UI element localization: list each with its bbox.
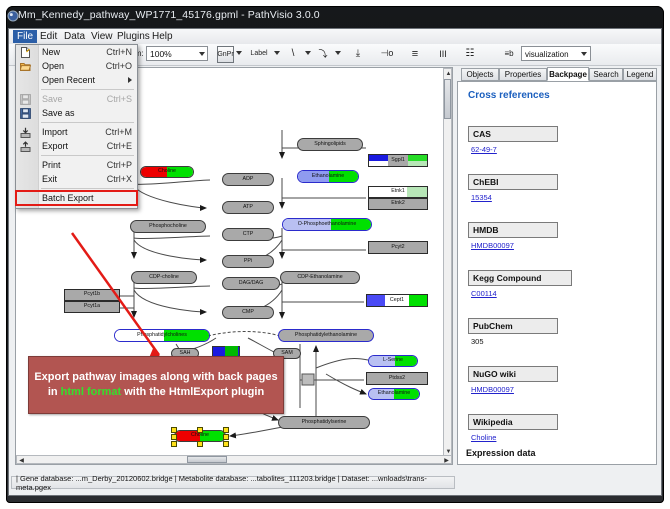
tab-objects[interactable]: Objects [461,68,499,81]
label-tool-button[interactable]: Label [247,46,271,61]
chevron-down-icon [199,52,205,56]
xref-source-label: CAS [468,126,558,142]
xref-cas: CAS 62-49-7 [468,126,558,154]
xref-pubchem: PubChem 305 [468,318,558,346]
menu-item-accel: Ctrl+E [107,141,132,151]
chevron-down-icon[interactable] [274,51,280,55]
menu-item-open-recent[interactable]: Open Recent [16,73,137,87]
distribute-horizontal-tool-button[interactable]: III [435,46,451,61]
line-tool-button[interactable]: \ [285,46,301,61]
callout-text-after: with the HtmlExport plugin [121,386,264,398]
export-icon [20,141,31,152]
menu-item-label: Open Recent [42,75,95,85]
menu-item-label: Export [42,141,68,151]
xref-source-label: Kegg Compound [468,270,572,286]
align-left-tool-button[interactable]: ⊣o [378,46,396,61]
menu-item-exit[interactable]: Exit Ctrl+X [16,172,137,186]
tab-search[interactable]: Search [589,68,623,81]
title-bar: Mm_Kennedy_pathway_WP1771_45176.gpml - P… [6,6,664,28]
menu-item-print[interactable]: Print Ctrl+P [16,158,137,172]
menu-item-save-as[interactable]: Save as [16,106,137,120]
tab-legend[interactable]: Legend [623,68,657,81]
chevron-right-icon [128,77,132,83]
gene-product-tool-button[interactable]: GnPr [217,46,234,63]
screenshot-root: Mm_Kennedy_pathway_WP1771_45176.gpml - P… [0,0,670,509]
backpage-panel: Cross references CAS 62-49-7 ChEBI 15354… [457,81,657,465]
status-bar-text: | Gene database: ...m_Derby_20120602.bri… [16,474,454,492]
menu-item-accel: Ctrl+S [107,94,132,104]
xref-value-link[interactable]: HMDB00097 [468,385,558,394]
zoom-value: 100% [150,49,172,59]
side-panel-tabs: Objects Properties Backpage Search Legen… [457,67,657,81]
menu-item-label: Exit [42,174,57,184]
menu-bar: File Edit Data View Plugins Help [9,29,661,45]
menu-item-label: Import [42,127,68,137]
align-top-tool-button[interactable]: ⤓ [350,46,366,61]
tab-properties[interactable]: Properties [499,68,547,81]
menu-item-import[interactable]: Import Ctrl+M [16,125,137,139]
xref-value-link[interactable]: HMDB00097 [468,241,558,250]
xref-value-link[interactable]: Choline [468,433,558,442]
menu-item-open[interactable]: Open Ctrl+O [16,59,137,73]
import-icon [20,127,31,138]
xref-value-link[interactable]: C00114 [468,289,572,298]
menu-item-accel: Ctrl+M [105,127,132,137]
xref-source-label: PubChem [468,318,558,334]
shape-connector-tool-button[interactable]: ⤵ [315,46,331,61]
menu-item-label: Print [42,160,61,170]
visualization-icon: ≡b [502,46,516,61]
backpage-heading: Cross references [468,90,550,101]
menu-separator [41,188,134,189]
distribute-vertical-tool-button[interactable]: ≡ [407,46,423,61]
menu-item-label: Save [42,94,63,104]
menu-separator [41,122,134,123]
xref-chebi: ChEBI 15354 [468,174,558,202]
xref-source-label: ChEBI [468,174,558,190]
chevron-down-icon[interactable] [335,51,341,55]
xref-source-label: NuGO wiki [468,366,558,382]
xref-value-link[interactable]: 62-49-7 [468,145,558,154]
stack-tool-button[interactable]: ☷ [462,46,478,61]
callout-highlight: html format [61,386,122,398]
annotation-callout: Export pathway images along with back pa… [28,356,284,414]
menu-item-accel: Ctrl+O [106,61,132,71]
menu-item-label: Save as [42,108,75,118]
application-window: Mm_Kennedy_pathway_WP1771_45176.gpml - P… [6,6,664,503]
menu-item-new[interactable]: New Ctrl+N [16,45,137,59]
xref-wikipedia: Wikipedia Choline [468,414,558,442]
xref-value: 305 [468,337,558,346]
save-disk-icon [20,94,31,105]
xref-source-label: Wikipedia [468,414,558,430]
status-bar: | Gene database: ...m_Derby_20120602.bri… [11,476,455,489]
side-panel: Objects Properties Backpage Search Legen… [457,67,657,465]
menu-separator [41,155,134,156]
menu-help[interactable]: Help [148,30,177,43]
file-menu-dropdown[interactable]: New Ctrl+N Open Ctrl+O Open Recent [15,44,138,209]
client-area: File Edit Data View Plugins Help Zoom: 1… [8,28,662,496]
chevron-down-icon[interactable] [236,51,242,55]
menu-edit[interactable]: Edit [36,30,61,43]
visualization-value: visualization [525,50,569,59]
window-title: Mm_Kennedy_pathway_WP1771_45176.gpml - P… [18,9,320,21]
menu-item-accel: Ctrl+N [106,47,132,57]
xref-nugo-wiki: NuGO wiki HMDB00097 [468,366,558,394]
save-as-icon [20,108,31,119]
xref-source-label: HMDB [468,222,558,238]
zoom-combobox[interactable]: 100% [146,46,208,61]
menu-item-accel: Ctrl+X [107,174,132,184]
menu-item-batch-export[interactable]: Batch Export [16,191,137,205]
chevron-down-icon [581,52,587,56]
visualization-combobox[interactable]: visualization [521,46,591,61]
xref-kegg-compound: Kegg Compound C00114 [468,270,572,298]
menu-item-export[interactable]: Export Ctrl+E [16,139,137,153]
menu-item-label: Batch Export [42,193,94,203]
chevron-down-icon[interactable] [305,51,311,55]
menu-separator [41,89,134,90]
menu-item-accel: Ctrl+P [107,160,132,170]
menu-item-label: Open [42,61,64,71]
xref-value-link[interactable]: 15354 [468,193,558,202]
open-folder-icon [20,61,31,72]
menu-item-save: Save Ctrl+S [16,92,137,106]
menu-data[interactable]: Data [60,30,89,43]
new-file-icon [20,47,31,58]
expression-data-heading: Expression data [466,448,536,458]
menu-item-label: New [42,47,60,57]
tab-backpage[interactable]: Backpage [547,67,589,81]
xref-hmdb: HMDB HMDB00097 [468,222,558,250]
menu-file[interactable]: File [13,30,37,43]
